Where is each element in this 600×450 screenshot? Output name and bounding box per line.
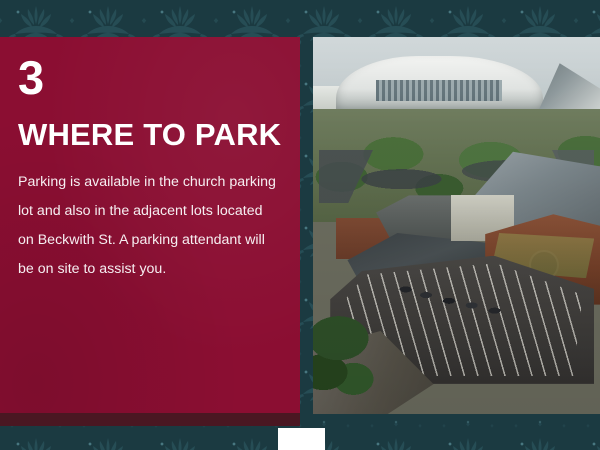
body-paragraph: Parking is available in the church parki…	[18, 168, 280, 284]
photo-stadium-glass	[376, 80, 502, 101]
step-number: 3	[18, 52, 290, 104]
photo-foreground-tree	[313, 293, 382, 406]
content-panel-footer-band	[0, 413, 300, 426]
aerial-photo-image	[313, 37, 600, 414]
aerial-photo	[313, 37, 600, 414]
bottom-white-tab	[278, 428, 325, 450]
content-text-block: 3 WHERE TO PARK Parking is available in …	[18, 52, 290, 284]
page-title: WHERE TO PARK	[18, 118, 290, 152]
photo-parked-cars	[393, 278, 519, 316]
slide-canvas: 3 WHERE TO PARK Parking is available in …	[0, 0, 600, 450]
